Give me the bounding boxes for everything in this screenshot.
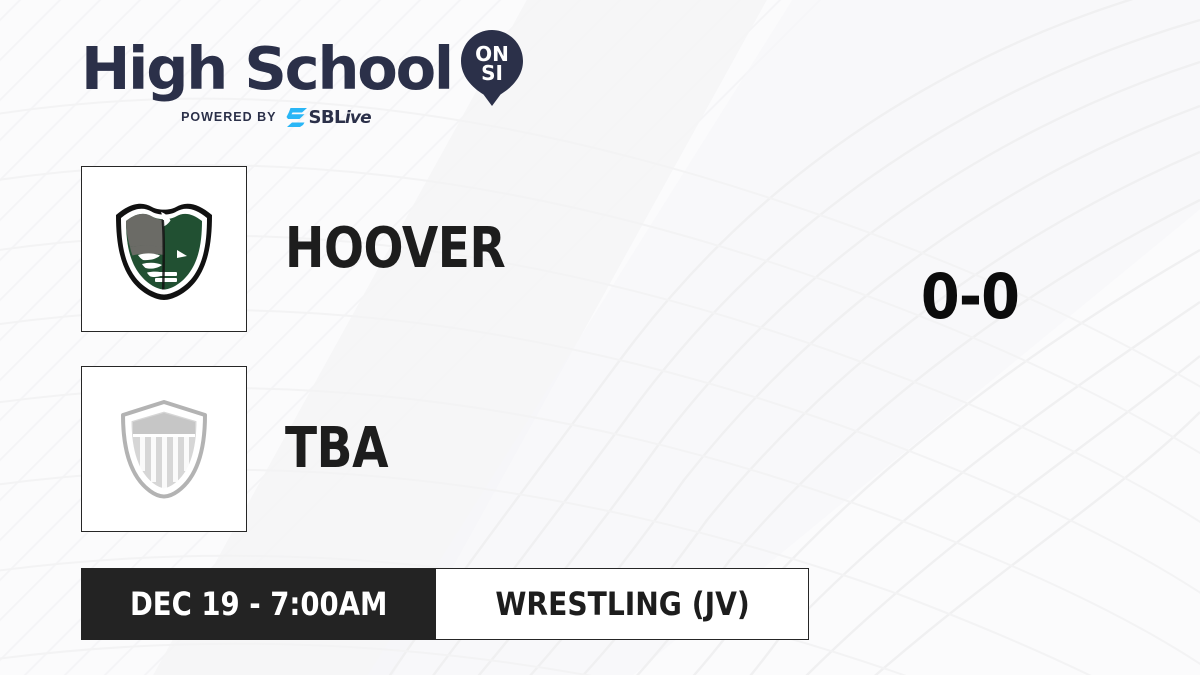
score-display: 0-0	[871, 243, 1069, 349]
game-sport: WRESTLING (JV)	[436, 568, 809, 640]
onsi-pin-line2: SI	[481, 61, 503, 85]
onsi-location-pin-icon: ON SI	[461, 30, 523, 106]
game-meta-bar: DEC 19 - 7:00AM WRESTLING (JV)	[81, 568, 809, 640]
sblive-wordmark: SBLive	[309, 107, 371, 128]
game-scorecard: High School ON SI POWERED BY SBLive	[0, 0, 1200, 675]
sblive-s-icon	[286, 108, 308, 127]
game-datetime: DEC 19 - 7:00AM	[81, 568, 436, 640]
away-team-name: TBA	[285, 421, 388, 477]
sblive-word-lower: ive	[345, 108, 371, 128]
powered-by-row: POWERED BY SBLive	[81, 107, 471, 127]
page-title: High School	[81, 38, 452, 100]
powered-by-label: POWERED BY	[181, 110, 276, 124]
home-team-logo-box	[81, 166, 247, 332]
away-team-logo-box	[81, 366, 247, 532]
brand-lockup: High School ON SI POWERED BY SBLive	[81, 33, 511, 138]
game-datetime-text: DEC 19 - 7:00AM	[130, 585, 387, 623]
team-row-away: TBA	[81, 366, 408, 532]
team-row-home: HOOVER	[81, 166, 547, 332]
brand-title-row: High School ON SI	[81, 33, 511, 105]
sblive-word-upper: SBL	[309, 107, 345, 128]
tba-placeholder-shield-logo	[114, 399, 214, 499]
sblive-logo: SBLive	[286, 107, 371, 128]
home-team-name: HOOVER	[285, 221, 505, 277]
game-sport-text: WRESTLING (JV)	[495, 585, 749, 623]
hoover-warrior-shield-logo	[108, 193, 220, 305]
